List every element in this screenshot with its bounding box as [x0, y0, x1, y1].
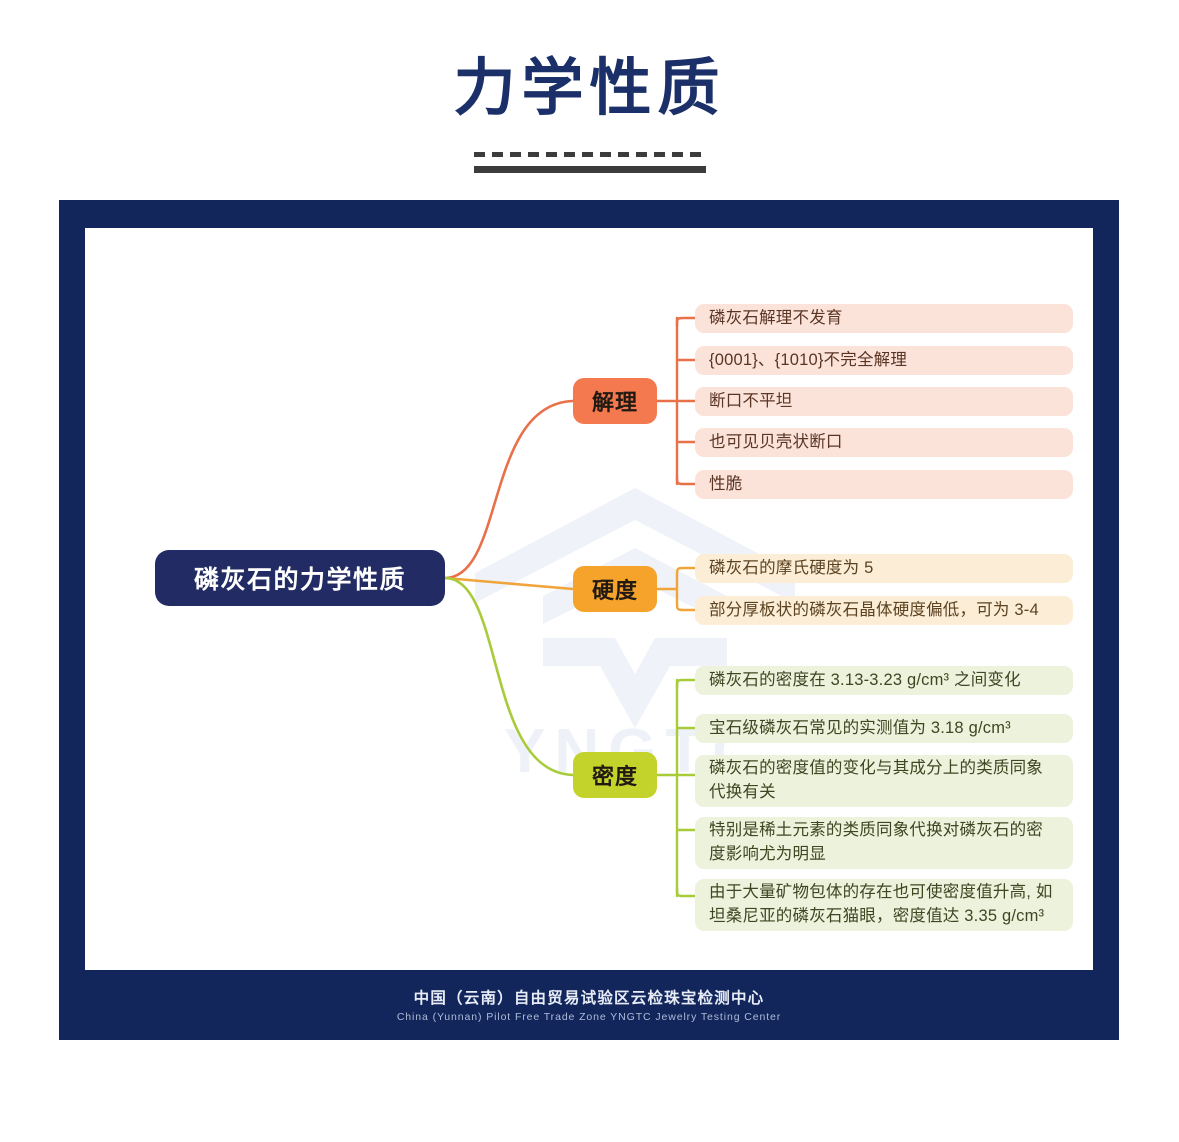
leaf-text: 磷灰石的密度在 3.13-3.23 g/cm³ 之间变化 — [709, 669, 1021, 693]
leaf-cleavage-2[interactable]: {0001}、{1010}不完全解理 — [695, 346, 1073, 375]
leaf-cleavage-1[interactable]: 磷灰石解理不发育 — [695, 304, 1073, 333]
branch-node-hardness[interactable]: 硬度 — [573, 566, 657, 612]
title-dashed-rule — [474, 152, 706, 157]
link-cleavage-leaves — [657, 318, 695, 484]
navy-frame: YNGTC — [59, 200, 1119, 1040]
leaf-text: 宝石级磷灰石常见的实测值为 3.18 g/cm³ — [709, 717, 1011, 741]
root-node[interactable]: 磷灰石的力学性质 — [155, 550, 445, 606]
leaf-hardness-1[interactable]: 磷灰石的摩氏硬度为 5 — [695, 554, 1073, 583]
leaf-text: 磷灰石解理不发育 — [709, 307, 843, 331]
leaf-density-5[interactable]: 由于大量矿物包体的存在也可使密度值升高, 如坦桑尼亚的磷灰石猫眼，密度值达 3.… — [695, 879, 1073, 931]
leaf-density-2[interactable]: 宝石级磷灰石常见的实测值为 3.18 g/cm³ — [695, 714, 1073, 743]
root-node-label: 磷灰石的力学性质 — [194, 560, 406, 596]
branch-node-cleavage[interactable]: 解理 — [573, 378, 657, 424]
leaf-density-1[interactable]: 磷灰石的密度在 3.13-3.23 g/cm³ 之间变化 — [695, 666, 1073, 695]
leaf-text: 磷灰石的密度值的变化与其成分上的类质同象代换有关 — [709, 757, 1059, 805]
leaf-text: 由于大量矿物包体的存在也可使密度值升高, 如坦桑尼亚的磷灰石猫眼，密度值达 3.… — [709, 881, 1059, 929]
page-header: 力学性质 — [0, 56, 1179, 121]
leaf-cleavage-4[interactable]: 也可见贝壳状断口 — [695, 428, 1073, 457]
leaf-text: 部分厚板状的磷灰石晶体硬度偏低，可为 3-4 — [709, 599, 1039, 623]
leaf-density-4[interactable]: 特别是稀土元素的类质同象代换对磷灰石的密度影响尤为明显 — [695, 817, 1073, 869]
link-root-cleavage — [445, 401, 573, 578]
branch-node-density[interactable]: 密度 — [573, 752, 657, 798]
leaf-density-3[interactable]: 磷灰石的密度值的变化与其成分上的类质同象代换有关 — [695, 755, 1073, 807]
title-solid-rule — [474, 166, 706, 173]
page-title: 力学性质 — [0, 56, 1179, 121]
mindmap-canvas: 磷灰石的力学性质 解理 磷灰石解理不发育 {0001}、{1010}不完全解理 … — [85, 228, 1093, 970]
footer-english: China (Yunnan) Pilot Free Trade Zone YNG… — [59, 1011, 1119, 1023]
branch-label-hardness: 硬度 — [592, 573, 638, 605]
leaf-text: 也可见贝壳状断口 — [709, 431, 843, 455]
link-root-density — [445, 578, 573, 775]
leaf-cleavage-5[interactable]: 性脆 — [695, 470, 1073, 499]
link-hardness-leaves — [657, 568, 695, 610]
link-density-leaves — [657, 680, 695, 896]
leaf-cleavage-3[interactable]: 断口不平坦 — [695, 387, 1073, 416]
leaf-text: 性脆 — [709, 473, 742, 497]
leaf-text: 断口不平坦 — [709, 390, 793, 414]
branch-label-density: 密度 — [592, 759, 638, 791]
leaf-text: 磷灰石的摩氏硬度为 5 — [709, 557, 873, 581]
branch-label-cleavage: 解理 — [592, 385, 638, 417]
leaf-text: {0001}、{1010}不完全解理 — [709, 349, 907, 373]
mindmap-page: 力学性质 YNGTC — [0, 0, 1179, 1142]
footer: 中国（云南）自由贸易试验区云检珠宝检测中心 China (Yunnan) Pil… — [59, 986, 1119, 1023]
white-panel: YNGTC — [85, 228, 1093, 970]
footer-chinese: 中国（云南）自由贸易试验区云检珠宝检测中心 — [59, 986, 1119, 1008]
leaf-hardness-2[interactable]: 部分厚板状的磷灰石晶体硬度偏低，可为 3-4 — [695, 596, 1073, 625]
leaf-text: 特别是稀土元素的类质同象代换对磷灰石的密度影响尤为明显 — [709, 819, 1059, 867]
